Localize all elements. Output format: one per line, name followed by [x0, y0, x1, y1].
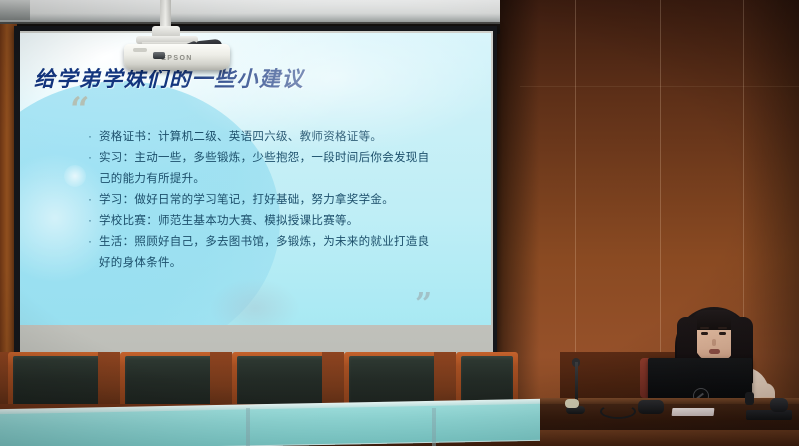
- glass-panel-seam: [432, 408, 436, 446]
- presenter-eyebrow-left: [700, 327, 709, 329]
- bullet-text: 生活：照顾好自己，多去图书馆，多锻炼，为未来的就业打造良: [99, 232, 429, 250]
- presenter-eyebrow-right: [718, 327, 727, 329]
- desk-object-dark: [638, 400, 664, 414]
- projector-lens: [153, 52, 165, 59]
- glass-panel-seam: [246, 408, 250, 446]
- list-item-continuation: 好的身体条件。: [88, 253, 473, 271]
- wristwatch: [745, 392, 754, 405]
- list-item: · 生活：照顾好自己，多去图书馆，多锻炼，为未来的就业打造良: [88, 232, 473, 250]
- presenter-nose: [712, 339, 716, 346]
- bullet-marker-icon: ·: [88, 232, 99, 250]
- screen-glare-lower: [210, 278, 300, 325]
- bullet-marker-icon: ·: [88, 211, 99, 229]
- quote-open-icon: “: [70, 93, 90, 127]
- slide-bubble-dot: [64, 165, 86, 187]
- desk-cable: [600, 404, 636, 419]
- bullet-text: 己的能力有所提升。: [99, 169, 205, 187]
- projector-vent: [133, 48, 147, 52]
- presenter-eye-left: [701, 332, 708, 335]
- bullet-marker-icon: ·: [88, 127, 99, 145]
- presenter-mouth: [709, 349, 720, 354]
- chair: [232, 352, 330, 408]
- projected-slide: 给学弟学妹们的一些小建议 “ ” · 资格证书：计算机二级、英语四六级、教师资格…: [20, 33, 491, 325]
- list-item: · 学习：做好日常的学习笔记，打好基础，努力拿奖学金。: [88, 190, 473, 208]
- bullet-text: 学习：做好日常的学习笔记，打好基础，努力拿奖学金。: [99, 190, 394, 208]
- keyboard[interactable]: [746, 410, 792, 420]
- bullet-text: 资格证书：计算机二级、英语四六级、教师资格证等。: [99, 127, 382, 145]
- bullet-text: 好的身体条件。: [99, 253, 182, 271]
- chair-backrest: [13, 356, 101, 408]
- chair: [8, 352, 106, 408]
- slide-bullet-list: · 资格证书：计算机二级、英语四六级、教师资格证等。 · 实习：主动一些，多些锻…: [88, 127, 473, 274]
- chair: [120, 352, 218, 408]
- desk-object-round: [770, 398, 788, 412]
- bullet-marker-icon: ·: [88, 190, 99, 208]
- presenter-eye-right: [719, 332, 726, 335]
- lecture-room-photo: 给学弟学妹们的一些小建议 “ ” · 资格证书：计算机二级、英语四六级、教师资格…: [0, 0, 799, 446]
- screen-roller-casing: [0, 0, 500, 24]
- list-item: · 实习：主动一些，多些锻炼，少些抱怨，一段时间后你会发现自: [88, 148, 473, 166]
- list-item-continuation: 己的能力有所提升。: [88, 169, 473, 187]
- desk-object-pale: [565, 399, 579, 408]
- chair-backrest: [237, 356, 325, 408]
- chair-backrest: [125, 356, 213, 408]
- roller-end-cap: [0, 0, 30, 20]
- projector-brand-label: EPSON: [124, 55, 230, 62]
- list-item: · 学校比赛：师范生基本功大赛、模拟授课比赛等。: [88, 211, 473, 229]
- bullet-text: 学校比赛：师范生基本功大赛、模拟授课比赛等。: [99, 211, 359, 229]
- quote-close-icon: ”: [415, 290, 432, 320]
- presenter-desk-front-rail: [540, 430, 799, 446]
- list-item: · 资格证书：计算机二级、英语四六级、教师资格证等。: [88, 127, 473, 145]
- desk-paper-sheet: [672, 408, 715, 416]
- bullet-marker-icon: ·: [88, 148, 99, 166]
- bullet-text: 实习：主动一些，多些锻炼，少些抱怨，一段时间后你会发现自: [99, 148, 429, 166]
- chair: [344, 352, 442, 408]
